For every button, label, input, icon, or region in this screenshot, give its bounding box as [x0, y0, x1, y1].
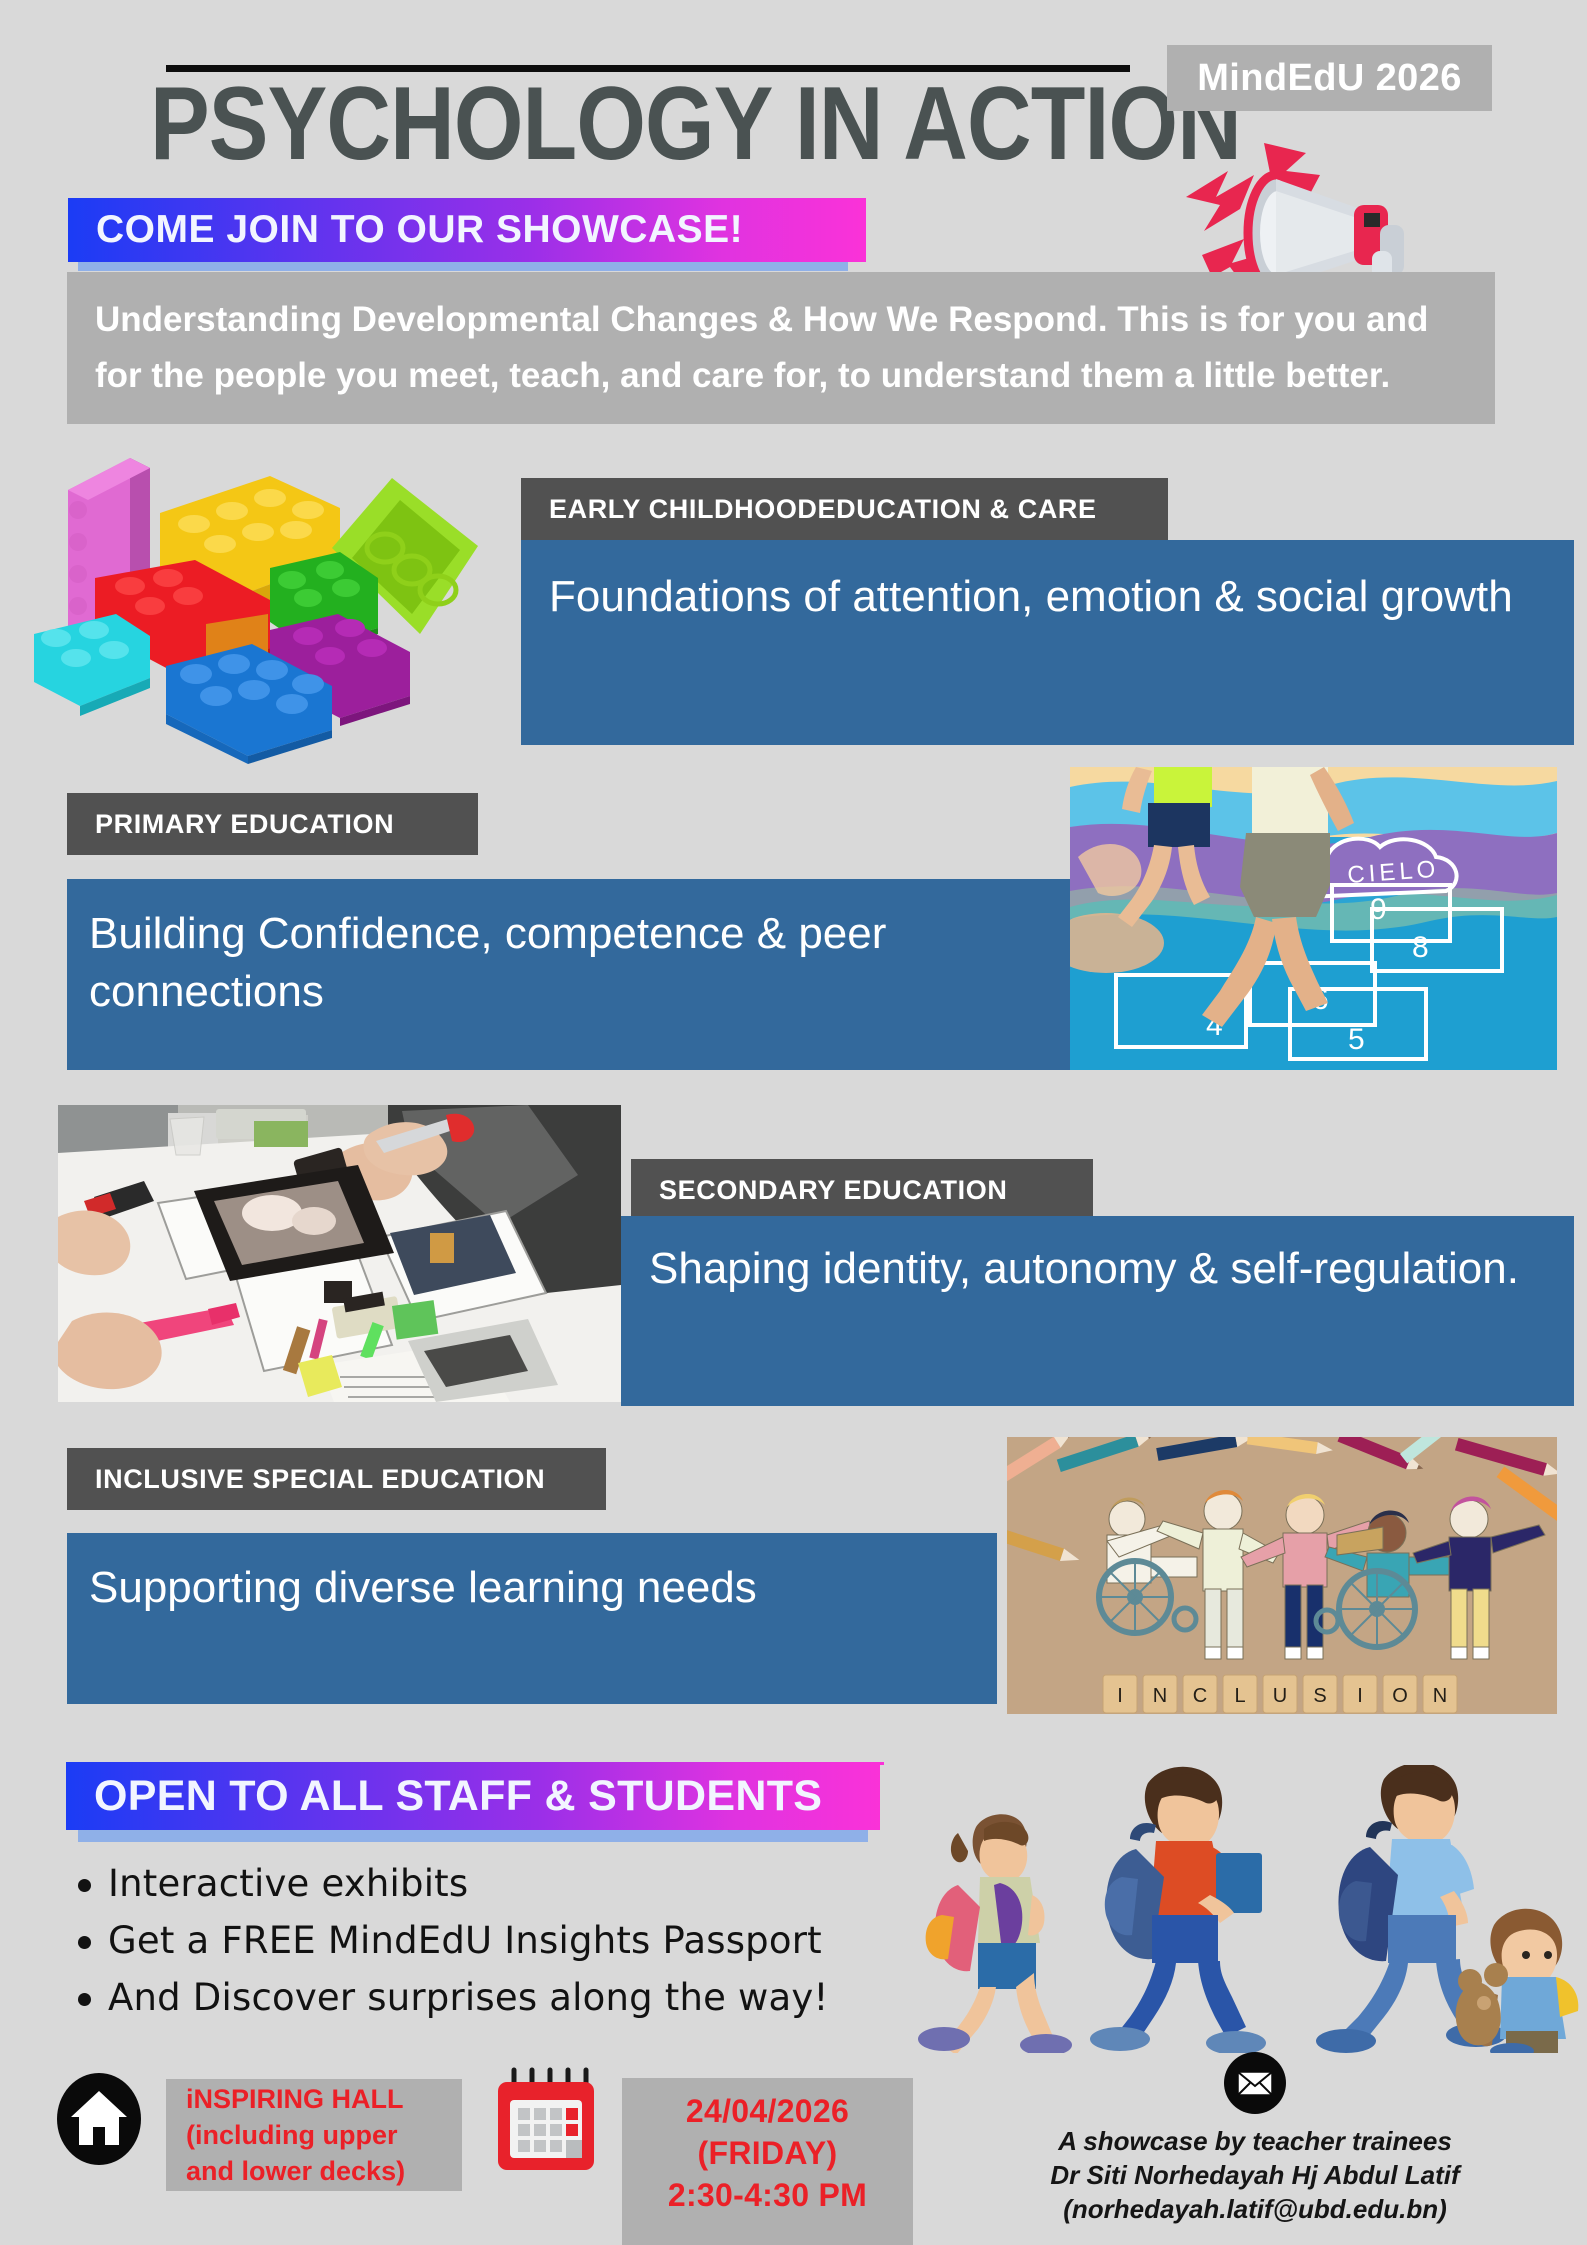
hopscotch-playground-photo: 9 8 6 5 4 CIELO: [1070, 767, 1557, 1070]
credit-line-2: Dr Siti Norhedayah Hj Abdul Latif: [1020, 2158, 1490, 2192]
svg-text:C: C: [1193, 1685, 1207, 1707]
section-text: Foundations of attention, emotion & soci…: [521, 540, 1574, 626]
section-tag-label: PRIMARY EDUCATION: [95, 809, 394, 840]
year-badge-label: MindEdU 2026: [1197, 57, 1462, 100]
venue-line-3: and lower decks): [186, 2153, 462, 2189]
svg-text:8: 8: [1412, 931, 1429, 964]
credit-line-1: A showcase by teacher trainees: [1020, 2124, 1490, 2158]
section-text: Supporting diverse learning needs: [67, 1533, 997, 1617]
showcase-banner-label: COME JOIN TO OUR SHOWCASE!: [96, 208, 743, 252]
intro-panel: Understanding Developmental Changes & Ho…: [67, 272, 1495, 424]
svg-text:I: I: [1117, 1685, 1123, 1707]
section-tag-primary: PRIMARY EDUCATION: [67, 793, 478, 855]
svg-text:N: N: [1153, 1685, 1167, 1707]
list-item: Get a FREE MindEdU Insights Passport: [108, 1912, 892, 1969]
venue-line-2: (including upper: [186, 2117, 462, 2153]
credit-block: A showcase by teacher trainees Dr Siti N…: [1020, 2124, 1490, 2226]
section-tag-label: SECONDARY EDUCATION: [659, 1175, 1007, 1206]
section-text: Building Confidence, competence & peer c…: [67, 879, 1080, 1021]
section-panel-inclusive: Supporting diverse learning needs: [67, 1533, 997, 1704]
section-tag-secondary: SECONDARY EDUCATION: [631, 1159, 1093, 1221]
list-item: Interactive exhibits: [108, 1855, 892, 1912]
event-time: 2:30-4:30 PM: [668, 2174, 867, 2216]
svg-text:U: U: [1273, 1685, 1287, 1707]
svg-text:9: 9: [1370, 893, 1387, 926]
envelope-icon: [1224, 2052, 1286, 2114]
lego-bricks-photo: [20, 438, 493, 768]
date-box: 24/04/2026 (FRIDAY) 2:30-4:30 PM: [622, 2078, 913, 2245]
section-panel-primary: Building Confidence, competence & peer c…: [67, 879, 1080, 1070]
open-banner: OPEN TO ALL STAFF & STUDENTS: [66, 1762, 884, 1830]
inclusion-papercut-photo: I N C L U S I O N: [1007, 1437, 1557, 1714]
venue-box: iNSPIRING HALL (including upper and lowe…: [166, 2079, 462, 2191]
credit-line-3: (norhedayah.latif@ubd.edu.bn): [1020, 2192, 1490, 2226]
poster-canvas: PSYCHOLOGY IN ACTION MindEdU 2026 COME J…: [0, 0, 1587, 2245]
svg-text:S: S: [1313, 1685, 1326, 1707]
section-tag-inclusive: INCLUSIVE SPECIAL EDUCATION: [67, 1448, 606, 1510]
svg-text:L: L: [1234, 1685, 1245, 1707]
section-panel-secondary: Shaping identity, autonomy & self-regula…: [621, 1216, 1574, 1406]
school-children-illustration: [880, 1765, 1587, 2053]
collaborative-desk-photo: [58, 1105, 621, 1402]
section-tag-label: EARLY CHILDHOODEDUCATION & CARE: [549, 494, 1097, 525]
year-badge: MindEdU 2026: [1167, 45, 1492, 111]
event-day: (FRIDAY): [698, 2132, 838, 2174]
open-banner-label: OPEN TO ALL STAFF & STUDENTS: [94, 1772, 822, 1821]
event-date: 24/04/2026: [686, 2090, 849, 2132]
page-title: PSYCHOLOGY IN ACTION: [150, 72, 1010, 176]
intro-text: Understanding Developmental Changes & Ho…: [67, 292, 1495, 404]
list-item: And Discover surprises along the way!: [108, 1969, 892, 2026]
section-panel-early-childhood: Foundations of attention, emotion & soci…: [521, 540, 1574, 745]
venue-line-1: iNSPIRING HALL: [186, 2081, 462, 2117]
benefits-list: Interactive exhibits Get a FREE MindEdU …: [62, 1855, 892, 2026]
section-tag-early-childhood: EARLY CHILDHOODEDUCATION & CARE: [521, 478, 1168, 540]
section-tag-label: INCLUSIVE SPECIAL EDUCATION: [95, 1464, 545, 1495]
svg-text:O: O: [1392, 1685, 1408, 1707]
svg-text:5: 5: [1348, 1023, 1365, 1056]
home-icon: [57, 2073, 141, 2165]
showcase-banner: COME JOIN TO OUR SHOWCASE!: [68, 198, 866, 262]
svg-text:N: N: [1433, 1685, 1447, 1707]
svg-text:I: I: [1357, 1685, 1363, 1707]
section-text: Shaping identity, autonomy & self-regula…: [621, 1216, 1574, 1298]
calendar-icon: [490, 2066, 600, 2176]
